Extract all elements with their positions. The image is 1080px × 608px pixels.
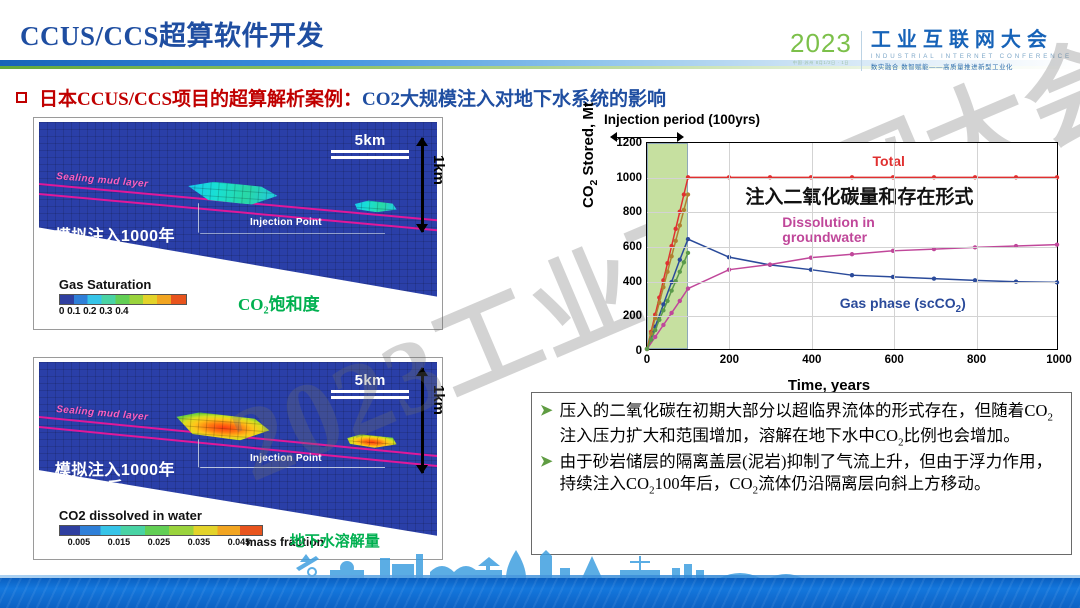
- logo-year-subtitle: 中国·苏州 8月1/2日 · 1日: [790, 60, 852, 66]
- cbar-tick: 0.1: [67, 306, 80, 317]
- conference-logo: 2023 中国·苏州 8月1/2日 · 1日 工业互联网大会 INDUSTRIA…: [790, 28, 1072, 71]
- chart-data-point: [678, 223, 682, 227]
- scalebar-rule-2: [331, 396, 409, 399]
- grid-line-vertical: [812, 143, 813, 349]
- sim-a-chinese-label: CO₂饱和度: [238, 290, 320, 315]
- x-axis-tick-label: 400: [802, 354, 821, 366]
- subtitle-blue-part: CO2大规模注入对地下水系统的影响: [362, 89, 666, 110]
- simulation-panel-gas-saturation: Sealing mud layer Injection Point 模拟注入10…: [33, 117, 443, 330]
- chart-data-point: [674, 239, 678, 243]
- chart-data-point: [682, 192, 686, 196]
- chart-data-point: [669, 311, 673, 315]
- x-axis-tick-label: 0: [644, 354, 650, 366]
- chart-y-axis-label: CO2 Stored, Mt: [580, 102, 600, 208]
- chart-data-point: [665, 270, 669, 274]
- conclusion-textbox: ➤ 压入的二氧化碳在初期大部分以超临界流体的形式存在，但随着CO2注入压力扩大和…: [531, 392, 1072, 555]
- chart-data-point: [686, 237, 690, 241]
- chart-title: Injection period (100yrs): [604, 112, 760, 127]
- chart-data-point: [768, 262, 772, 266]
- chart-data-point: [665, 299, 669, 303]
- annotation-chinese: 注入二氧化碳量和存在形式: [745, 182, 973, 209]
- annotation-total: Total: [873, 153, 905, 169]
- depth-arrow-down-icon: [416, 465, 428, 474]
- chart-data-point: [678, 258, 682, 262]
- grid-line-horizontal: [647, 316, 1057, 317]
- logo-chinese-name: 工业互联网大会: [871, 30, 1072, 50]
- injection-point-label: Injection Point: [250, 217, 322, 228]
- x-axis-tick-label: 1000: [1046, 354, 1072, 366]
- cbar-tick: 0.3: [99, 306, 112, 317]
- annotation-dissolution: Dissolution ingroundwater: [782, 215, 875, 246]
- sim-b-canvas: Sealing mud layer Injection Point 模拟注入10…: [39, 362, 437, 555]
- arrow-bullet-icon: ➤: [540, 400, 553, 449]
- square-bullet-icon: [16, 92, 27, 103]
- y-axis-tick-label: 200: [623, 310, 642, 322]
- y-axis-tick-label: 600: [623, 241, 642, 253]
- cbar-tick: 0.4: [115, 306, 128, 317]
- chart-data-point: [669, 254, 673, 258]
- grid-line-horizontal: [647, 178, 1057, 179]
- y-axis-tick-label: 1000: [616, 172, 642, 184]
- y-axis-tick-label: 400: [623, 276, 642, 288]
- chart-plot-area: Total 注入二氧化碳量和存在形式 Dissolution ingroundw…: [646, 142, 1058, 350]
- chart-series-svg: [647, 143, 1057, 349]
- chart-data-point: [678, 299, 682, 303]
- chart-data-point: [669, 288, 673, 292]
- logo-text-block: 工业互联网大会 INDUSTRIAL INTERNET CONFERENCE 数…: [871, 28, 1072, 71]
- grid-line-horizontal: [647, 247, 1057, 248]
- section-subtitle: 日本CCUS/CCS项目的超算解析案例：CO2大规模注入对地下水系统的影响: [16, 84, 666, 111]
- chart-data-point: [682, 260, 686, 264]
- sim-a-caption-line2: 后: [55, 245, 175, 262]
- sim-b-scalebar-label: 5km: [331, 372, 409, 389]
- subtitle-text: 日本CCUS/CCS项目的超算解析案例：CO2大规模注入对地下水系统的影响: [39, 84, 666, 111]
- chart-data-point: [850, 252, 854, 256]
- sim-a-depth-label: 1km: [430, 155, 447, 185]
- sim-b-depth-arrow: [414, 368, 440, 473]
- depth-arrow-down-icon: [416, 224, 428, 233]
- chart-data-point: [686, 286, 690, 290]
- logo-slogan: 数实融合 数智赋能——高质量推进新型工业化: [871, 62, 1072, 71]
- page-title: CCUS/CCS超算软件开发: [20, 14, 324, 53]
- sim-b-scalebar: 5km: [331, 372, 409, 399]
- logo-divider: [861, 31, 862, 71]
- chart-data-point: [850, 273, 854, 277]
- chart-data-point: [661, 308, 665, 312]
- chart-data-point: [674, 227, 678, 231]
- scalebar-rule-1: [331, 390, 409, 393]
- depth-arrow-up-icon: [416, 137, 428, 146]
- cbar-tick: 0.2: [83, 306, 96, 317]
- sim-a-scalebar: 5km: [331, 132, 409, 159]
- sim-a-caption-line1: 模拟注入1000年: [55, 228, 175, 245]
- y-axis-tick-label: 1200: [616, 137, 642, 149]
- textbox-item-text: 压入的二氧化碳在初期大部分以超临界流体的形式存在，但随着CO2注入压力扩大和范围…: [560, 400, 1061, 449]
- sim-a-legend-title: Gas Saturation: [59, 277, 187, 292]
- x-axis-tick-label: 800: [967, 354, 986, 366]
- sim-b-caption-line2: 后: [55, 480, 175, 497]
- footer-band: [0, 578, 1080, 608]
- chart-data-point: [678, 270, 682, 274]
- textbox-item: ➤ 由于砂岩储层的隔离盖层(泥岩)抑制了气流上升，但由于浮力作用，持续注入CO2…: [540, 451, 1061, 497]
- x-axis-tick-label: 200: [720, 354, 739, 366]
- grid-line-vertical: [729, 143, 730, 349]
- chart-data-point: [657, 318, 661, 322]
- city-skyline-decoration: [0, 532, 1080, 580]
- subtitle-red-part: 日本CCUS/CCS项目的超算解析案例：: [39, 89, 362, 110]
- y-axis-tick-label: 800: [623, 206, 642, 218]
- chart-data-point: [661, 323, 665, 327]
- co2-storage-chart: Injection period (100yrs) CO2 Stored, Mt…: [586, 112, 1072, 390]
- grid-line-horizontal: [647, 212, 1057, 213]
- simulation-panel-co2-dissolved: Sealing mud layer Injection Point 模拟注入10…: [33, 357, 443, 560]
- sim-a-scalebar-label: 5km: [331, 132, 409, 149]
- sim-a-legend: Gas Saturation 0 0.1 0.2 0.3 0.4: [59, 277, 187, 317]
- annotation-gas-phase: Gas phase (scCO2): [840, 295, 966, 315]
- injection-point-label: Injection Point: [250, 453, 322, 464]
- chart-data-point: [686, 251, 690, 255]
- chart-data-point: [661, 285, 665, 289]
- chart-data-point: [645, 347, 649, 351]
- depth-arrow-up-icon: [416, 367, 428, 376]
- arrow-bullet-icon: ➤: [540, 451, 553, 497]
- depth-axis-line: [421, 138, 424, 232]
- chart-data-point: [932, 276, 936, 280]
- x-axis-tick-label: 600: [885, 354, 904, 366]
- grid-line-vertical: [894, 143, 895, 349]
- sim-b-caption: 模拟注入1000年 后: [55, 462, 175, 497]
- sim-b-depth-label: 1km: [430, 385, 447, 415]
- scalebar-rule-2: [331, 156, 409, 159]
- chart-data-point: [657, 300, 661, 304]
- arrow-head-right-icon: [677, 132, 684, 142]
- logo-year-block: 2023 中国·苏州 8月1/2日 · 1日: [790, 28, 852, 66]
- y-axis-tick-label: 0: [636, 345, 642, 357]
- grid-line-vertical: [977, 143, 978, 349]
- grid-line-horizontal: [647, 282, 1057, 283]
- chart-data-point: [649, 337, 653, 341]
- chart-data-point: [653, 328, 657, 332]
- chart-data-point: [686, 192, 690, 196]
- scalebar-rule-1: [331, 150, 409, 153]
- logo-year: 2023: [790, 30, 852, 56]
- gas-saturation-colorbar-ticks: 0 0.1 0.2 0.3 0.4: [59, 306, 187, 317]
- logo-english-name: INDUSTRIAL INTERNET CONFERENCE: [871, 53, 1072, 60]
- sim-b-caption-line1: 模拟注入1000年: [55, 462, 175, 479]
- cbar-tick: 0: [59, 306, 64, 317]
- sim-b-legend-title: CO2 dissolved in water: [59, 508, 263, 523]
- sim-a-caption: 模拟注入1000年 后: [55, 228, 175, 263]
- textbox-item: ➤ 压入的二氧化碳在初期大部分以超临界流体的形式存在，但随着CO2注入压力扩大和…: [540, 400, 1061, 449]
- textbox-item-text: 由于砂岩储层的隔离盖层(泥岩)抑制了气流上升，但由于浮力作用，持续注入CO210…: [560, 451, 1061, 497]
- sim-a-canvas: Sealing mud layer Injection Point 模拟注入10…: [39, 122, 437, 325]
- gas-saturation-colorbar: [59, 294, 187, 305]
- depth-axis-line: [421, 368, 424, 473]
